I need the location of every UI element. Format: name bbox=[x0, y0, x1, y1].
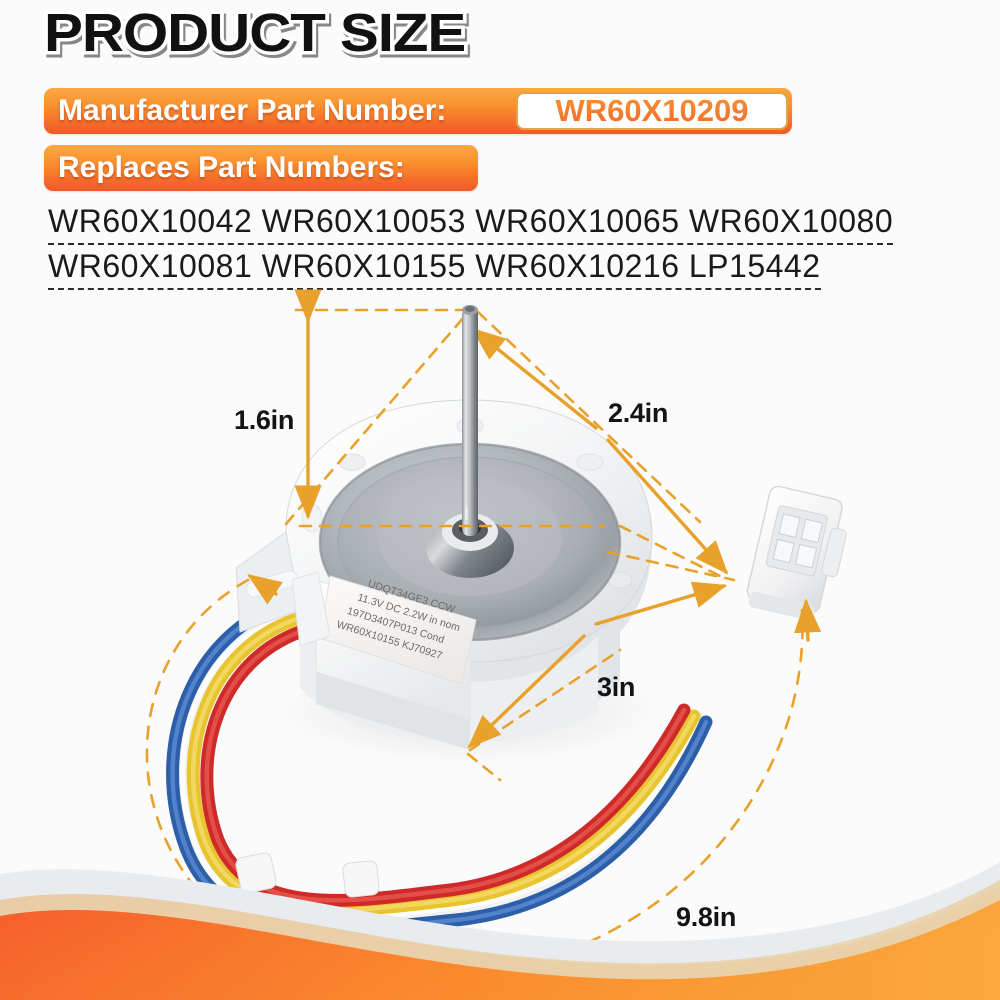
manufacturer-part-number-value-box: WR60X10209 bbox=[516, 92, 788, 130]
product-photo: UDQT34GE3 CCW 11.3V DC 2.2W in nom 197D3… bbox=[0, 280, 1000, 940]
manufacturer-part-number-label: Manufacturer Part Number: bbox=[44, 94, 446, 128]
manufacturer-part-number-value: WR60X10209 bbox=[555, 93, 748, 129]
replaces-part-numbers-label: Replaces Part Numbers: bbox=[44, 151, 405, 185]
cable-dimension-arrow-end bbox=[806, 602, 808, 640]
manufacturer-part-number-badge: Manufacturer Part Number: WR60X10209 bbox=[44, 88, 792, 134]
bottom-decorative-swoosh bbox=[0, 860, 1000, 1000]
infographic-canvas: PRODUCT SIZE Manufacturer Part Number: W… bbox=[0, 0, 1000, 1000]
replaces-part-numbers-badge: Replaces Part Numbers: bbox=[44, 145, 478, 191]
wire-connector bbox=[744, 485, 854, 625]
page-title: PRODUCT SIZE bbox=[44, 4, 465, 62]
dimension-label-diagonal: 2.4in bbox=[608, 398, 668, 429]
dimension-label-height: 1.6in bbox=[234, 405, 294, 436]
motor-shaft-overlay bbox=[462, 305, 478, 508]
dimension-label-width: 3in bbox=[597, 672, 635, 703]
replaces-part-numbers-row: WR60X10042 WR60X10053 WR60X10065 WR60X10… bbox=[48, 203, 893, 245]
